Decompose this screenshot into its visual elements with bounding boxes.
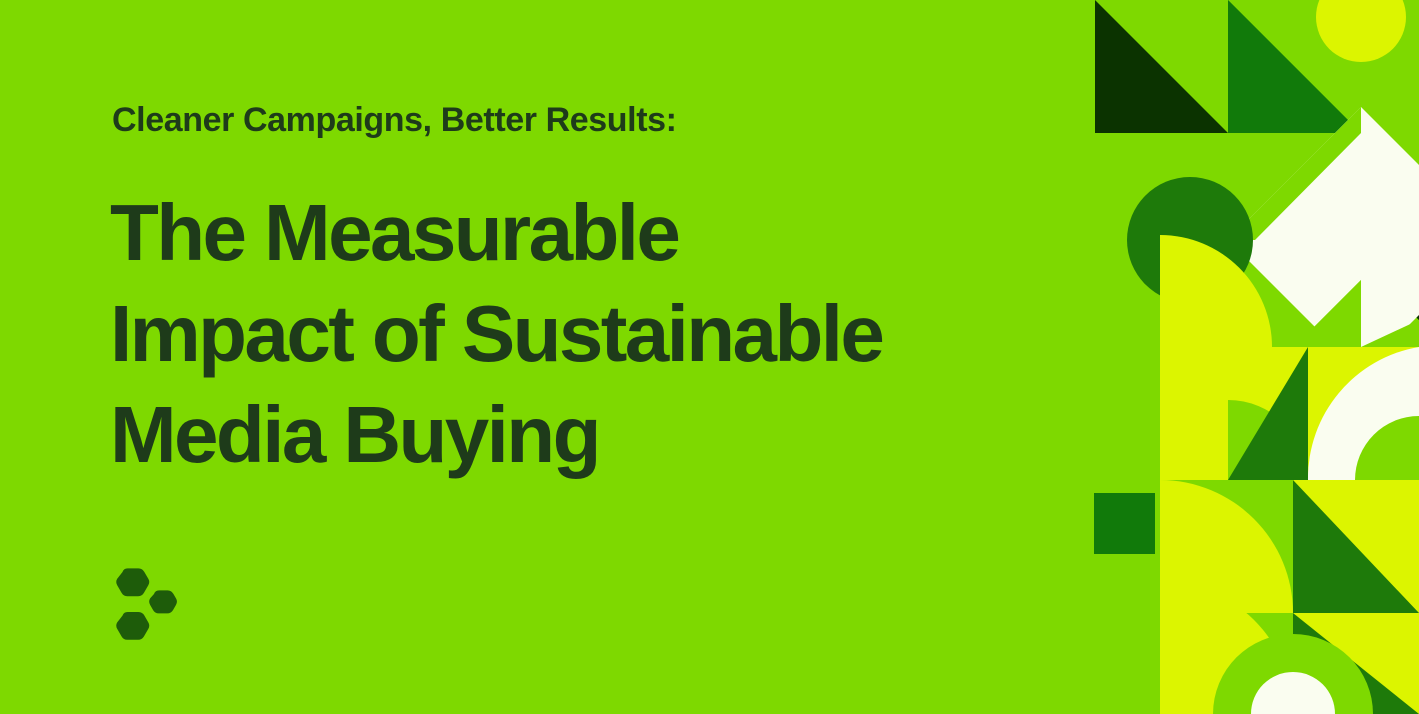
page-title: The Measurable Impact of Sustainable Med… [110, 183, 1110, 485]
triangle-dark-right-upper [1361, 133, 1419, 320]
three-hexagon-logo [110, 566, 178, 640]
hexagon-middle-right [149, 590, 177, 613]
headline-line-1: The Measurable [110, 183, 1110, 284]
ring-cream-hole [1355, 416, 1419, 480]
circle-forest-mid-left [1127, 177, 1253, 303]
diamond-mask-upper-left [1228, 107, 1361, 240]
quarter-circle-lime-center [1228, 400, 1308, 480]
wedge-dark-right [1361, 133, 1419, 320]
quarter-circle-yellow [1160, 235, 1272, 347]
banner-content: Cleaner Campaigns, Better Results: The M… [0, 0, 1100, 714]
row3-yellow-right [1293, 480, 1419, 613]
headline-line-2: Impact of Sustainable [110, 284, 1110, 385]
lime-fill-left-x [1294, 280, 1361, 347]
ring-cream [1308, 369, 1419, 480]
hexagon-bottom-left [116, 612, 149, 640]
ring-cream-outer [1308, 347, 1419, 480]
geometric-decoration [1080, 0, 1419, 714]
triangle-forest-bottom [1293, 480, 1419, 613]
lime-spacer [1361, 347, 1419, 405]
yellow-block-row2 [1160, 347, 1419, 480]
quarter-circle-yellow-bottom [1160, 480, 1293, 613]
hexagon-top-left [116, 568, 149, 596]
logo-hexagons [116, 568, 177, 639]
lime-fill-x [1294, 280, 1361, 347]
row2-top-sliver [1361, 320, 1419, 347]
triangle-lime-notch [1361, 133, 1419, 191]
headline-line-3: Media Buying [110, 385, 1110, 486]
circle-cream-bottom [1251, 672, 1335, 714]
circle-yellow-top-right [1316, 0, 1406, 62]
hero-banner: Cleaner Campaigns, Better Results: The M… [0, 0, 1419, 714]
triangle-dark-top-left [1095, 0, 1228, 133]
triangle-forest-center [1228, 347, 1308, 480]
triangle-mid-top-center [1228, 0, 1361, 133]
pattern-background [1080, 0, 1419, 714]
row4-yellow-right [1293, 613, 1419, 714]
circle-lime-bottom [1213, 634, 1373, 714]
square-green-small [1094, 493, 1155, 554]
eyebrow-text: Cleaner Campaigns, Better Results: [112, 100, 677, 141]
triangle-mid-top-center-a [1228, 0, 1361, 133]
triangle-lime-top-center-b [1228, 0, 1361, 133]
triangle-forest-row4 [1293, 613, 1419, 714]
diamond-cream [1228, 107, 1419, 373]
quarter-circle-yellow-row4 [1160, 581, 1293, 714]
